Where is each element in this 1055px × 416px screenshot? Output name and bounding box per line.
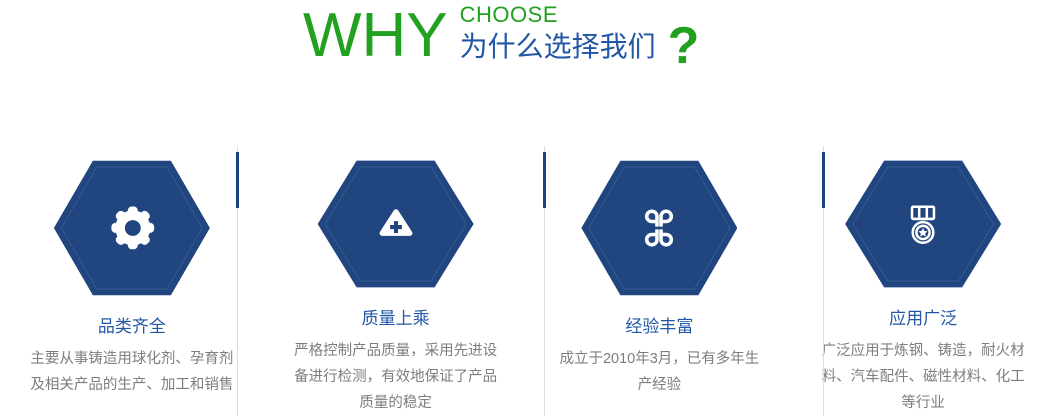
- feature-card-description: 广泛应用于炼钢、铸造，耐火材料、汽车配件、磁性材料、化工等行业: [818, 338, 1028, 416]
- why-choose-us-section: WHY CHOOSE 为什么选择我们 ? 品类齐全 主要从事铸造用球化剂、孕育剂…: [0, 0, 1055, 416]
- four-petal-clover-icon: [632, 201, 686, 255]
- triangle-plus-icon: [369, 197, 423, 251]
- gear-icon: [105, 201, 159, 255]
- card-divider: [237, 146, 238, 416]
- heading-subblock: CHOOSE 为什么选择我们: [460, 0, 656, 65]
- feature-card-title: 经验丰富: [625, 316, 693, 338]
- feature-card-title: 应用广泛: [889, 308, 957, 330]
- feature-card-title: 品类齐全: [98, 316, 166, 338]
- heading-question-mark: ?: [668, 0, 700, 76]
- medal-star-icon: [896, 197, 950, 251]
- feature-card: 品类齐全 主要从事铸造用球化剂、孕育剂及相关产品的生产、加工和销售: [0, 146, 264, 416]
- hexagon-badge: [54, 158, 210, 298]
- feature-card: 应用广泛 广泛应用于炼钢、铸造，耐火材料、汽车配件、磁性材料、化工等行业: [791, 146, 1055, 416]
- heading-why: WHY: [303, 0, 448, 72]
- feature-card-description: 主要从事铸造用球化剂、孕育剂及相关产品的生产、加工和销售: [27, 346, 237, 398]
- feature-card-list: 品类齐全 主要从事铸造用球化剂、孕育剂及相关产品的生产、加工和销售 质量上乘 严…: [0, 146, 1055, 416]
- feature-card-description: 成立于2010年3月，已有多年生产经验: [554, 346, 764, 398]
- header-inner: WHY CHOOSE 为什么选择我们 ?: [303, 0, 699, 76]
- feature-card: 经验丰富 成立于2010年3月，已有多年生产经验: [528, 146, 792, 416]
- feature-card-title: 质量上乘: [362, 308, 430, 330]
- feature-card-description: 严格控制产品质量，采用先进设备进行检测，有效地保证了产品质量的稳定: [291, 338, 501, 416]
- heading-choose: CHOOSE: [460, 2, 656, 28]
- section-header: WHY CHOOSE 为什么选择我们 ?: [0, 0, 1055, 92]
- hexagon-badge: [581, 158, 737, 298]
- feature-card: 质量上乘 严格控制产品质量，采用先进设备进行检测，有效地保证了产品质量的稳定: [264, 146, 528, 416]
- card-divider: [544, 146, 545, 416]
- hexagon-badge: [318, 158, 474, 290]
- heading-chinese-title: 为什么选择我们: [460, 29, 656, 65]
- hexagon-badge: [845, 158, 1001, 290]
- card-divider: [823, 146, 824, 416]
